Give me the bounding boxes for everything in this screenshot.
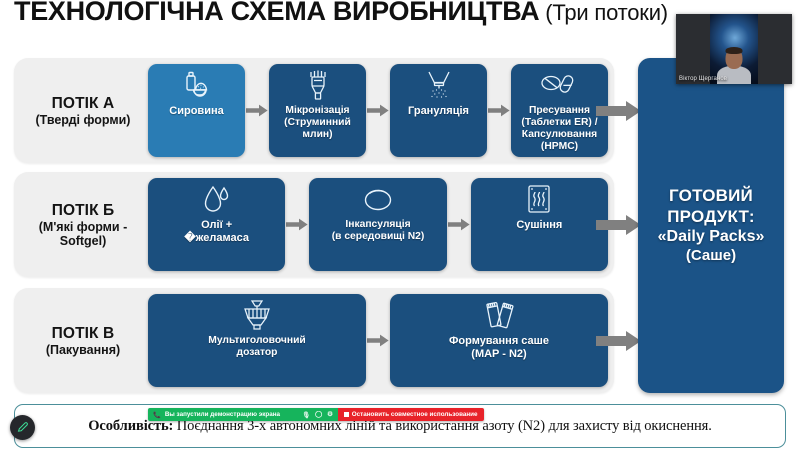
share-status-bar: 📞 Вы запустили демонстрацию экрана 🎙 ◯ ⚙: [148, 408, 338, 421]
jet-mill-icon: [303, 69, 333, 103]
lane-b-steps: Олії + �желамаса Інкапсуляція (в середов…: [148, 178, 608, 271]
webcam-hair: [726, 47, 743, 54]
tablet-capsule-icon: [540, 69, 580, 103]
step-encapsulation-n2[interactable]: Інкапсуляція (в середовищі N2): [309, 178, 446, 271]
arrow-icon: [487, 64, 511, 157]
arrow-icon: [366, 64, 390, 157]
lane-label-c-title: ПОТІК В: [22, 324, 144, 341]
share-phone-icon: 📞: [153, 411, 161, 419]
annotation-pen-icon[interactable]: [10, 415, 35, 440]
lane-label-a-sub: (Тверді форми): [22, 113, 144, 127]
page-title-main: ТЕХНОЛОГІЧНА СХЕМА ВИРОБНИЦТВА: [14, 0, 539, 26]
lane-label-a: ПОТІК А (Тверді форми): [22, 94, 144, 126]
final-product-text: ГОТОВИЙ ПРОДУКТ: «Daily Packs» (Саше): [658, 186, 765, 265]
step-raw-material-label: Сировина: [169, 105, 223, 118]
arrow-icon: [245, 64, 269, 157]
final-product-line1: ГОТОВИЙ: [658, 186, 765, 207]
step-oils-gelmass-label: Олії + �желамаса: [184, 219, 249, 245]
lane-c-steps: Мультиголовочний дозатор: [148, 294, 608, 387]
stop-square-icon: [344, 412, 349, 417]
step-drying[interactable]: Сушіння: [471, 178, 608, 271]
share-toolbar-icons: 🎙 ◯ ⚙: [302, 411, 333, 419]
step-micronization-label: Мікронізація (Струминний млин): [284, 105, 351, 141]
webcam-tile[interactable]: Віктор Щерганов: [676, 14, 792, 84]
step-drying-label: Сушіння: [516, 219, 562, 232]
stop-sharing-label: Остановить совместное использование: [352, 411, 478, 418]
lane-row-a: ПОТІК А (Тверді форми): [14, 58, 614, 163]
lane-a-steps: Сировина Мікронізація (Струминний млин): [148, 64, 608, 157]
step-micronization[interactable]: Мікронізація (Струминний млин): [269, 64, 366, 157]
slide-canvas: ТЕХНОЛОГІЧНА СХЕМА ВИРОБНИЦТВА (Три пото…: [0, 0, 800, 450]
lane-label-c-sub: (Пакування): [22, 343, 144, 357]
final-product-line2: ПРОДУКТ:: [658, 207, 765, 228]
step-pressing-label: Пресування (Таблетки ER) / Капсулювання …: [521, 105, 597, 154]
arrow-icon: [447, 178, 471, 271]
step-encapsulation-label: Інкапсуляція (в середовищі N2): [332, 219, 425, 243]
lane-label-b-title: ПОТІК Б: [22, 201, 144, 218]
arrow-icon: [366, 294, 390, 387]
step-sachet-forming[interactable]: Формування саше (MAP - N2): [390, 294, 608, 387]
arrow-to-final-product-a: [596, 100, 642, 122]
softgel-capsule-icon: [361, 183, 395, 217]
lane-row-c: ПОТІК В (Пакування) Мультиголовочний доз…: [14, 288, 614, 393]
final-product-line3: «Daily Packs»: [658, 227, 765, 247]
arrow-icon: [285, 178, 309, 271]
step-multihead-weigher[interactable]: Мультиголовочний дозатор: [148, 294, 366, 387]
step-sachet-forming-label: Формування саше (MAP - N2): [449, 335, 549, 361]
microphone-icon[interactable]: 🎙: [302, 411, 310, 419]
step-raw-material[interactable]: Сировина: [148, 64, 245, 157]
step-granulation[interactable]: Грануляція: [390, 64, 487, 157]
lane-label-c: ПОТІК В (Пакування): [22, 324, 144, 356]
raw-material-icon: [180, 69, 214, 103]
step-multihead-weigher-label: Мультиголовочний дозатор: [208, 335, 305, 359]
lane-label-b: ПОТІК Б (М'які форми - Softgel): [22, 201, 144, 247]
step-pressing-encapsulation[interactable]: Пресування (Таблетки ER) / Капсулювання …: [511, 64, 608, 157]
multihead-weigher-icon: [239, 299, 275, 333]
page-title-sub: (Три потоки): [539, 0, 668, 25]
sachet-packs-icon: [482, 299, 516, 333]
arrow-to-final-product-c: [596, 330, 642, 352]
webcam-video-feed: [710, 14, 758, 84]
webcam-participant-name: Віктор Щерганов: [679, 76, 727, 82]
lane-label-b-sub: (М'які форми - Softgel): [22, 220, 144, 248]
final-product-panel[interactable]: ГОТОВИЙ ПРОДУКТ: «Daily Packs» (Саше): [638, 58, 784, 393]
drying-heat-icon: [525, 183, 553, 217]
step-granulation-label: Грануляція: [408, 105, 469, 118]
video-camera-icon[interactable]: ◯: [315, 411, 322, 418]
settings-gear-icon[interactable]: ⚙: [327, 411, 333, 418]
step-oils-gelmass[interactable]: Олії + �желамаса: [148, 178, 285, 271]
lane-label-a-title: ПОТІК А: [22, 94, 144, 111]
stop-sharing-button[interactable]: Остановить совместное использование: [338, 408, 484, 421]
page-title: ТЕХНОЛОГІЧНА СХЕМА ВИРОБНИЦТВА (Три пото…: [14, 0, 774, 30]
granulation-spray-icon: [423, 69, 455, 103]
arrow-to-final-product-b: [596, 214, 642, 236]
screen-share-toolbar[interactable]: 📞 Вы запустили демонстрацию экрана 🎙 ◯ ⚙…: [148, 408, 484, 421]
lane-row-b: ПОТІК Б (М'які форми - Softgel) Олії + �…: [14, 172, 614, 277]
oil-droplet-icon: [202, 183, 232, 217]
final-product-line4: (Саше): [658, 247, 765, 265]
share-status-label: Вы запустили демонстрацию экрана: [165, 411, 280, 418]
